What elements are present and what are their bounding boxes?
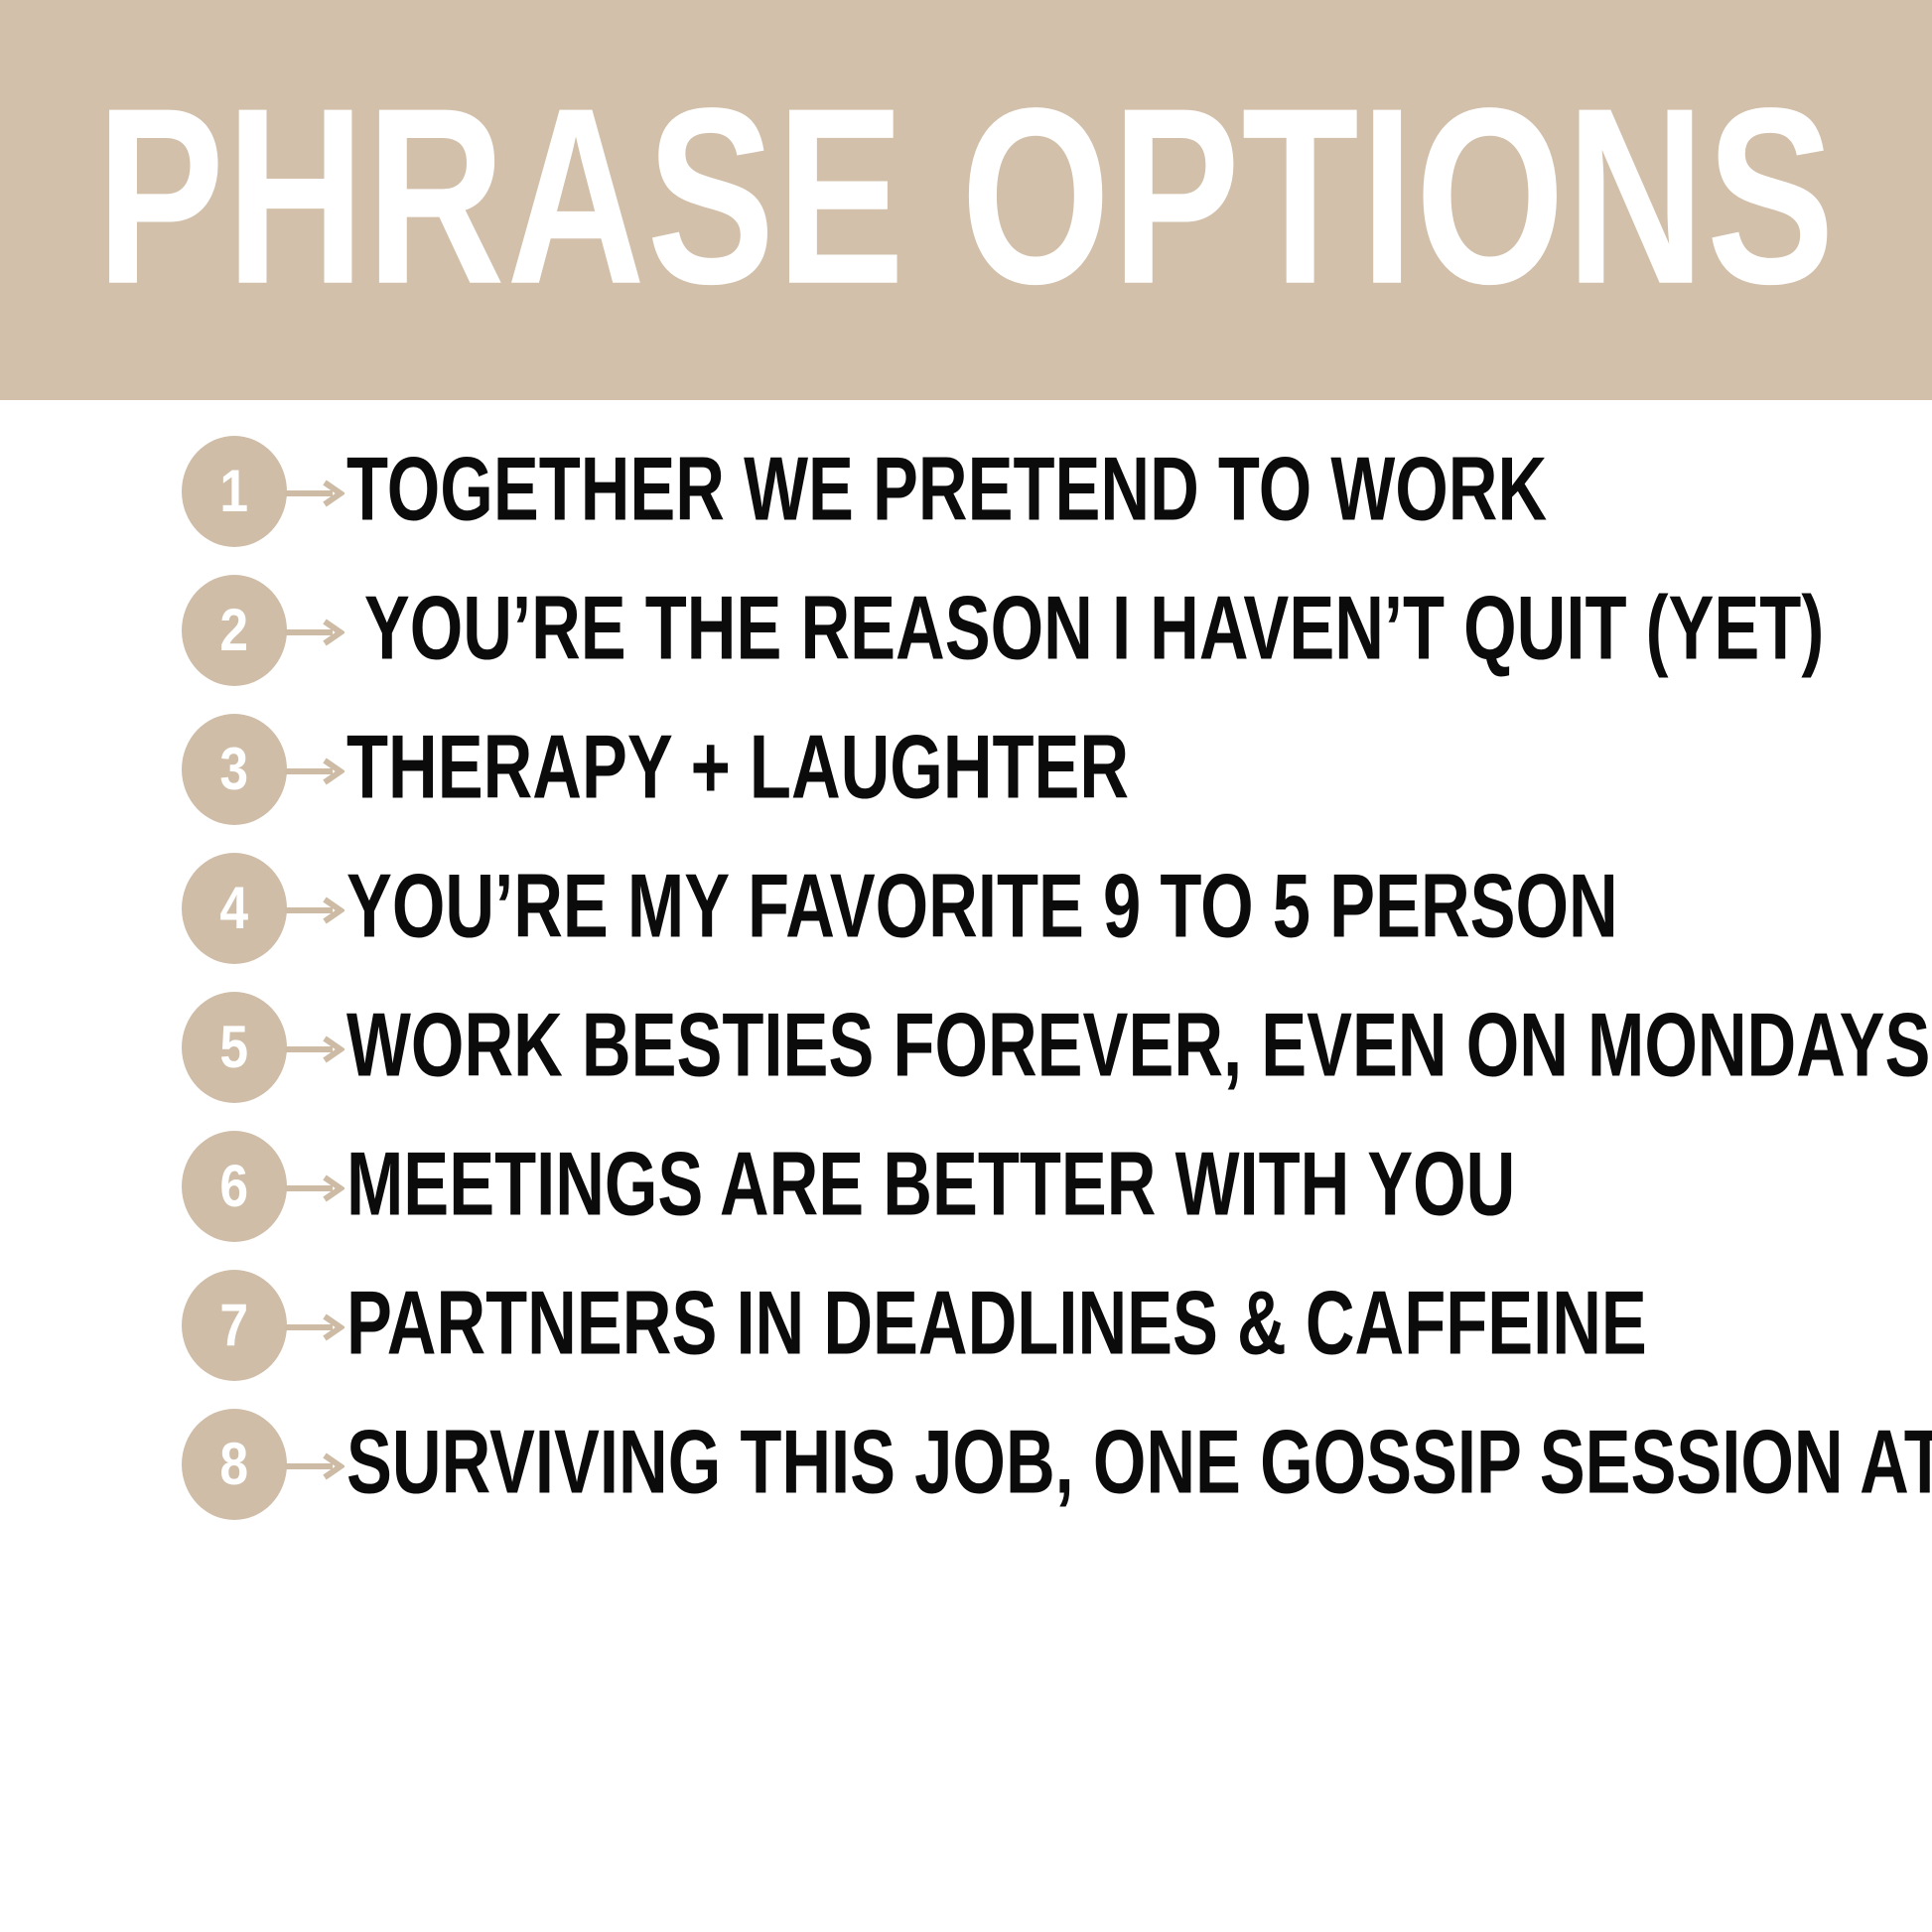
item-number-badge: 3: [182, 714, 287, 825]
arrow-right-icon: [283, 616, 345, 649]
item-number-label: 5: [220, 1018, 249, 1077]
list-item: 4 YOU’RE MY FAVORITE 9 TO 5 PERSON: [0, 839, 1932, 978]
header-band: PHRASE OPTIONS: [0, 0, 1932, 400]
item-number-label: 1: [220, 462, 249, 521]
list-item: 1 TOGETHER WE PRETEND TO WORK: [0, 422, 1932, 561]
arrow-right-icon: [283, 1311, 345, 1344]
item-number-label: 3: [220, 740, 249, 799]
arrow-right-icon: [283, 477, 345, 510]
phrase-text: TOGETHER WE PRETEND TO WORK: [346, 444, 1547, 534]
item-number-label: 8: [220, 1435, 249, 1494]
phrase-text: THERAPY + LAUGHTER: [346, 722, 1129, 812]
item-number-badge: 5: [182, 992, 287, 1103]
item-number-badge: 8: [182, 1409, 287, 1520]
list-item: 6 MEETINGS ARE BETTER WITH YOU: [0, 1117, 1932, 1256]
page-title: PHRASE OPTIONS: [96, 93, 1836, 299]
arrow-right-icon: [283, 894, 345, 927]
phrase-text: WORK BESTIES FOREVER, EVEN ON MONDAYS: [346, 1000, 1930, 1090]
arrow-right-icon: [283, 1033, 345, 1066]
item-number-badge: 7: [182, 1270, 287, 1381]
item-number-label: 2: [220, 601, 249, 660]
phrase-text: PARTNERS IN DEADLINES & CAFFEINE: [346, 1278, 1647, 1368]
item-number-badge: 6: [182, 1131, 287, 1242]
phrase-text: YOU’RE THE REASON I HAVEN’T QUIT (YET): [346, 583, 1824, 673]
phrase-text: YOU’RE MY FAVORITE 9 TO 5 PERSON: [346, 861, 1618, 951]
arrow-right-icon: [283, 755, 345, 788]
item-number-label: 6: [220, 1157, 249, 1216]
item-number-label: 4: [220, 879, 249, 938]
item-number-label: 7: [220, 1296, 249, 1355]
item-number-badge: 1: [182, 436, 287, 547]
phrase-text: MEETINGS ARE BETTER WITH YOU: [346, 1139, 1515, 1229]
list-item: 8 SURVIVING THIS JOB, ONE GOSSIP SESSION…: [0, 1395, 1932, 1534]
item-number-badge: 4: [182, 853, 287, 964]
phrase-text: SURVIVING THIS JOB, ONE GOSSIP SESSION A…: [346, 1417, 1932, 1507]
item-number-badge: 2: [182, 575, 287, 686]
list-item: 7 PARTNERS IN DEADLINES & CAFFEINE: [0, 1256, 1932, 1395]
arrow-right-icon: [283, 1172, 345, 1205]
poster-canvas: PHRASE OPTIONS 1 TOGETHER WE PRETEND TO …: [0, 0, 1932, 1932]
list-item: 2 YOU’RE THE REASON I HAVEN’T QUIT (YET): [0, 561, 1932, 700]
list-item: 3 THERAPY + LAUGHTER: [0, 700, 1932, 839]
arrow-right-icon: [283, 1449, 345, 1483]
phrase-options-list: 1 TOGETHER WE PRETEND TO WORK 2 YOU’RE: [0, 400, 1932, 1932]
list-item: 5 WORK BESTIES FOREVER, EVEN ON MONDAYS: [0, 978, 1932, 1117]
